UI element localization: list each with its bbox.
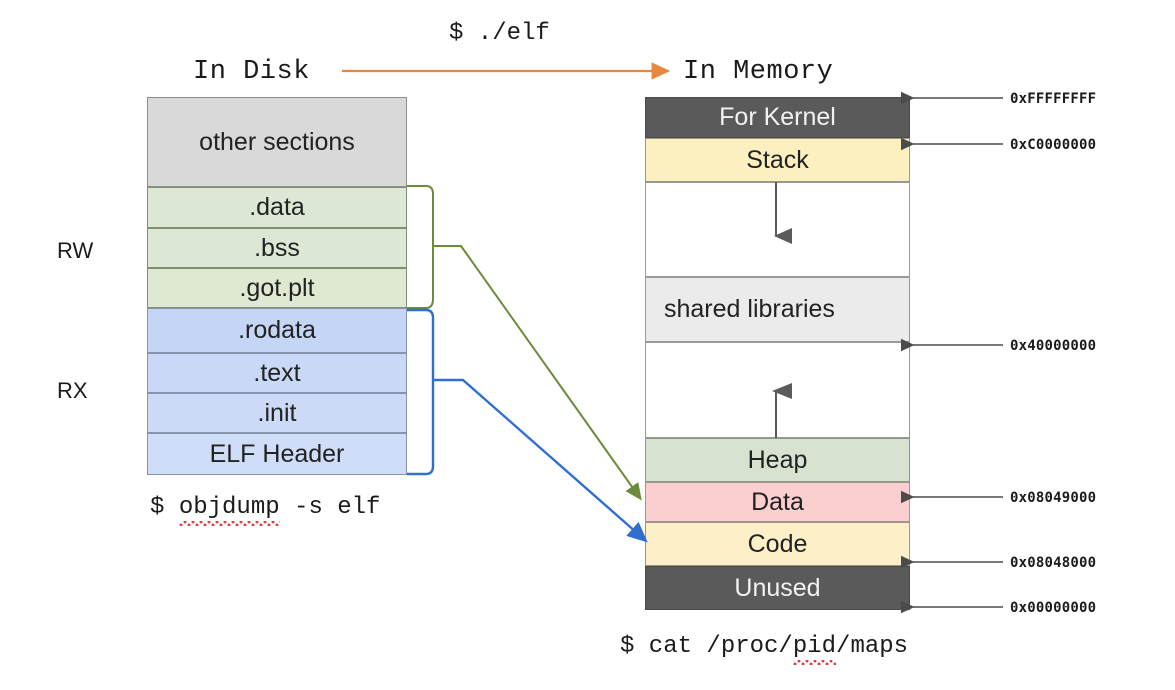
- disk-section-init: .init: [147, 393, 407, 433]
- memory-region-label: Unused: [734, 574, 820, 603]
- disk-section-label: other sections: [199, 128, 355, 157]
- address-label-1: 0xC0000000: [1010, 137, 1096, 153]
- memory-region-label: shared libraries: [664, 295, 835, 324]
- disk-section-label: .data: [249, 193, 305, 222]
- memory-region-label: Data: [751, 488, 804, 517]
- memory-region-label: For Kernel: [719, 103, 836, 132]
- transition-command: $ ./elf: [449, 20, 550, 47]
- memory-region-for-kernel: For Kernel: [645, 97, 910, 138]
- disk-section-label: .init: [258, 399, 297, 428]
- disk-section-label: .bss: [254, 234, 300, 263]
- disk-section-elf-header: ELF Header: [147, 433, 407, 475]
- memory-region-shared-libraries: shared libraries: [645, 277, 910, 342]
- memory-region-stack: Stack: [645, 138, 910, 182]
- disk-section-bss: .bss: [147, 228, 407, 268]
- heading-in-memory: In Memory: [683, 57, 833, 87]
- memory-region-unused: Unused: [645, 566, 910, 610]
- heap-growth-arrow-up: [760, 385, 796, 443]
- disk-section-label: ELF Header: [210, 440, 345, 469]
- connector-rx-to-code: [400, 300, 665, 550]
- memory-region-data: Data: [645, 482, 910, 522]
- heading-in-disk: In Disk: [193, 57, 310, 87]
- memory-region-code: Code: [645, 522, 910, 566]
- disk-section-label: .text: [253, 359, 300, 388]
- permission-label-rw: RW: [57, 238, 93, 264]
- address-label-5: 0x00000000: [1010, 600, 1096, 616]
- disk-caption: $ objdump -s elf: [150, 494, 380, 521]
- disk-section-data: .data: [147, 187, 407, 228]
- memory-caption-pid: pid: [793, 633, 836, 660]
- diagram-canvas: In Disk $ ./elf In Memory RW RX other se…: [0, 0, 1175, 690]
- disk-section-label: .rodata: [238, 316, 316, 345]
- memory-region-label: Stack: [746, 146, 809, 175]
- address-label-2: 0x40000000: [1010, 338, 1096, 354]
- disk-section-label: .got.plt: [239, 274, 314, 303]
- memory-region-label: Heap: [748, 446, 808, 475]
- transition-arrow: [340, 58, 685, 86]
- address-label-0: 0xFFFFFFFF: [1010, 91, 1096, 107]
- disk-section-rodata: .rodata: [147, 308, 407, 353]
- address-leader-lines: [905, 85, 1025, 615]
- memory-caption: $ cat /proc/pid/maps: [620, 633, 908, 660]
- memory-region-heap: Heap: [645, 438, 910, 482]
- disk-section-other-sections: other sections: [147, 97, 407, 187]
- disk-section-gotplt: .got.plt: [147, 268, 407, 308]
- permission-label-rx: RX: [57, 378, 88, 404]
- stack-growth-arrow-down: [760, 182, 796, 252]
- disk-caption-command: objdump: [179, 494, 280, 521]
- disk-section-text: .text: [147, 353, 407, 393]
- memory-region-label: Code: [748, 530, 808, 559]
- address-label-3: 0x08049000: [1010, 490, 1096, 506]
- address-label-4: 0x08048000: [1010, 555, 1096, 571]
